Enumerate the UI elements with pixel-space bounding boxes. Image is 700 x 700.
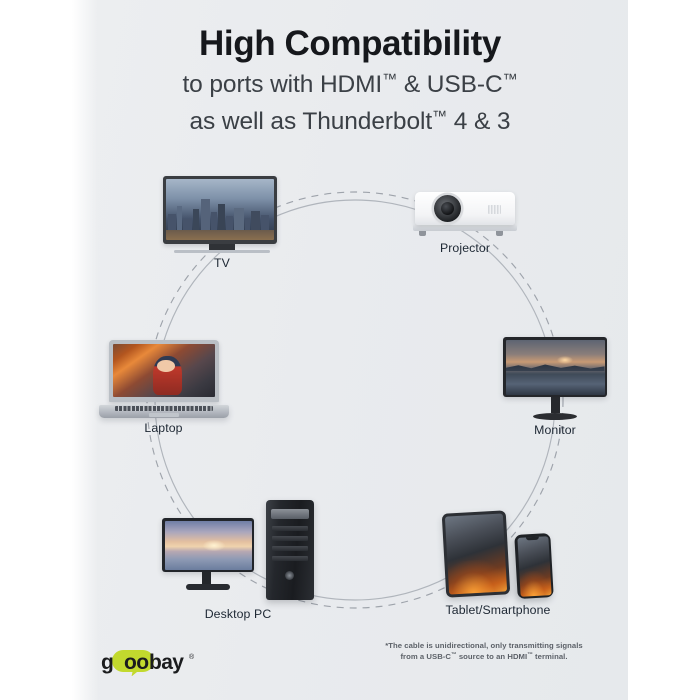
infographic-root: High Compatibility to ports with HDMI™ &…: [0, 0, 700, 700]
svg-text:g: g: [101, 651, 113, 674]
device-label-monitor: Monitor: [500, 423, 610, 437]
page-title: High Compatibility: [72, 24, 628, 64]
subtitle-line-2-text: as well as Thunderbolt: [190, 108, 433, 135]
goobay-logo: g oo bay ®: [101, 648, 197, 676]
footnote: *The cable is unidirectional, only trans…: [358, 641, 610, 663]
device-label-tablet-smartphone: Tablet/Smartphone: [425, 603, 571, 617]
projector-icon: [409, 192, 521, 238]
trademark-icon: ™: [503, 71, 518, 88]
svg-text:bay: bay: [149, 651, 184, 674]
footnote-line-2-b: source to an HDMI: [457, 652, 528, 661]
subtitle-line-2: as well as Thunderbolt™ 4 & 3: [72, 106, 628, 138]
device-node-laptop: Laptop: [97, 340, 230, 435]
device-node-desktop-pc: Desktop PC: [158, 500, 318, 621]
laptop-icon: [97, 340, 230, 418]
footnote-line-1: *The cable is unidirectional, only trans…: [385, 641, 583, 650]
device-node-tablet-smartphone: Tablet/Smartphone: [425, 512, 571, 617]
subtitle-line-2-text-b: 4 & 3: [447, 108, 510, 135]
svg-text:®: ®: [189, 653, 195, 661]
svg-text:oo: oo: [124, 651, 148, 674]
device-label-projector: Projector: [409, 241, 521, 255]
device-node-tv: TV: [163, 176, 281, 270]
tablet-smartphone-icon: [425, 512, 571, 600]
device-node-monitor: Monitor: [500, 337, 610, 437]
desktop-pc-icon: [158, 500, 318, 604]
trademark-icon: ™: [432, 108, 447, 125]
tv-icon: [163, 176, 281, 253]
trademark-icon: ™: [382, 71, 397, 88]
monitor-icon: [500, 337, 610, 420]
device-label-desktop-pc: Desktop PC: [158, 607, 318, 621]
device-label-laptop: Laptop: [97, 421, 230, 435]
subtitle-line-1: to ports with HDMI™ & USB-C™: [72, 69, 628, 101]
footnote-line-2-c: terminal.: [533, 652, 568, 661]
subtitle-line-1-text: to ports with HDMI: [182, 71, 382, 98]
device-node-projector: Projector: [409, 192, 521, 255]
subtitle-line-1-text-b: & USB-C: [397, 71, 502, 98]
footnote-line-2-a: from a USB-C: [400, 652, 451, 661]
heading-block: High Compatibility to ports with HDMI™ &…: [72, 24, 628, 138]
device-label-tv: TV: [163, 256, 281, 270]
